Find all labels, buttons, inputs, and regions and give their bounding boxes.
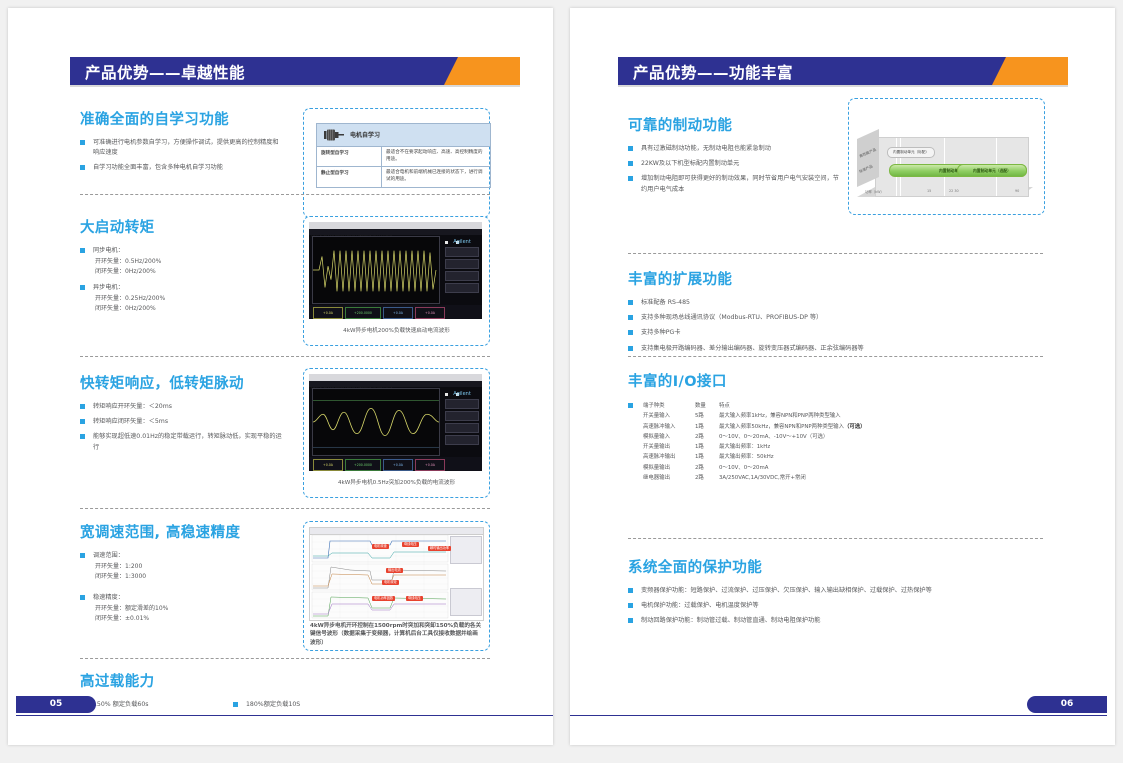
list-item: 异步电机： <box>80 283 280 293</box>
sub-item: 闭环矢量：0Hz/200% <box>80 304 280 314</box>
scope-side-cell <box>445 271 479 281</box>
right-banner-underline <box>618 85 1068 87</box>
col-type: 端子种类 <box>641 401 695 411</box>
section-title: 准确全面的自学习功能 <box>80 108 280 129</box>
bullet-list: 可准确进行电机参数自学习，方便操作调试，提供更高的控制精度和响应速度 自学习功能… <box>80 138 280 174</box>
footer-rule <box>570 715 1107 717</box>
col-note: 特点 <box>719 401 1028 411</box>
right-banner-title: 产品优势——功能丰富 <box>633 61 793 83</box>
cell-qty: 5路 <box>695 411 719 421</box>
section-speed-range: 宽调速范围, 高稳速精度 调速范围： 开环矢量：1:200 闭环矢量：1:300… <box>80 521 285 624</box>
sub-item: 闭环矢量：1:3000 <box>80 572 285 582</box>
cell-note: 0～10V、0～20mA、-10V～+10V（可选） <box>719 432 1028 442</box>
scope-titlebar: DSO-X 3034A MY54180742 Modbus 01/22/2014 <box>309 222 482 229</box>
cell-type: 模拟量输入 <box>628 432 695 442</box>
figure-scope-2: DSO-X 3034A MY54180742 Modbus 01/08/2013… <box>303 368 490 498</box>
current-waveform <box>313 237 439 303</box>
cell-type: 高速脉冲输出 <box>628 452 695 462</box>
cell-qty: 2路 <box>695 463 719 473</box>
section-expansion: 丰富的扩展功能 标准配备 RS-485 支持多种现场总线通讯协议（Modbus-… <box>628 268 988 359</box>
list-item: 同步电机： <box>80 246 280 256</box>
scope-titlebar: DSO-X 3034A MY54180742 Modbus 01/08/2013 <box>309 374 482 381</box>
page-right: 产品优势——功能丰富 可靠的制动功能 具有过激磁制动功能，无制动电阻也能紧急制动… <box>570 8 1115 745</box>
cell-qty: 2路 <box>695 432 719 442</box>
axis-label: 22 30 <box>949 189 959 193</box>
list-item: 支持集电极开路编码器、差分输出编码器、旋转变压器式编码器、正余弦编码器等 <box>628 344 988 354</box>
channel-readout: +0.0A <box>415 459 445 471</box>
divider <box>628 253 1043 254</box>
list-item: 150% 额定负载60s <box>80 700 233 710</box>
io-table: 端子种类 数量 特点 开关量输入 5路 最大输入频率1kHz，兼容NPN和PNP… <box>628 401 1028 483</box>
chart-legend-panel <box>450 536 482 564</box>
section-overload: 高过载能力 150% 额定负载60s 180%额定负载10S <box>80 670 490 715</box>
scope-side-cell <box>445 283 479 293</box>
cell-qty: 2路 <box>695 473 719 483</box>
figure-scope-1: DSO-X 3034A MY54180742 Modbus 01/22/2014… <box>303 216 490 346</box>
cell-qty: 1路 <box>695 422 719 432</box>
page-number-right: 06 <box>1027 696 1107 713</box>
annotation-label: 输出电流 <box>386 568 403 573</box>
scope-side-cell <box>445 411 479 421</box>
annotation-label: 母线电压 <box>402 542 419 547</box>
table-row: 高速脉冲输出 1路 最大输出频率：50kHz <box>628 452 1028 462</box>
cell-note: 最大输出频率：50kHz <box>719 452 1028 462</box>
scope-side-panel: Agilent <box>444 237 480 303</box>
annotation-label: 电机转速 <box>372 544 389 549</box>
col-qty: 数量 <box>695 401 719 411</box>
figure-motor-selflearn: 电机自学习 旋转型自学习 最适合不在要求起动响应、高速、高控制精度的用途。 静止… <box>303 108 490 218</box>
cell-type: 高速脉冲输入 <box>628 422 695 432</box>
list-item: 可准确进行电机参数自学习，方便操作调试，提供更高的控制精度和响应速度 <box>80 138 280 158</box>
annotation-label: 电机转矩 <box>382 580 399 585</box>
figure-caption: 4kW异步电机200%负载快速启动电流波形 <box>310 327 483 335</box>
figure-curve-chart: 电机转速 母线电压 瞬时输出功率 输出电流 电机转矩 电机功率因数 母线电压 4… <box>303 521 490 651</box>
list-item: 调速范围： <box>80 551 285 561</box>
annotation-label: 母线电压 <box>406 596 423 601</box>
cell-type: 开关量输入 <box>628 411 695 421</box>
page-number-left: 05 <box>16 696 96 713</box>
divider <box>628 538 1043 539</box>
agilent-logo: Agilent <box>444 237 480 245</box>
scope-side-cell <box>445 259 479 269</box>
channel-readout: +0.0A <box>415 307 445 319</box>
low-freq-waveform <box>313 389 439 455</box>
cell-note: 3A/250VAC,1A/30VDC,常开+常闭 <box>719 473 1028 483</box>
section-title: 系统全面的保护功能 <box>628 556 1048 577</box>
agilent-logo: Agilent <box>444 389 480 397</box>
braking-unit-diagram: 高性能产品 标准产品 内置制动单元（标配） 内置制动单元（标配） 内置制动单元（… <box>857 119 1035 199</box>
divider <box>80 658 490 659</box>
section-title: 大启动转矩 <box>80 216 280 237</box>
list-item: 22KW及以下机型标配内置制动单元 <box>628 159 843 169</box>
channel-readout: +0.0A <box>383 459 413 471</box>
list-item: 增加制动电阻即可获得更好的制动效果，同时节省用户电气安装空间，节约用户电气成本 <box>628 174 843 194</box>
scope-side-cell <box>445 435 479 445</box>
row-desc: 最适合不在要求起动响应、高速、高控制精度的用途。 <box>382 147 490 166</box>
bullet-list: 标准配备 RS-485 支持多种现场总线通讯协议（Modbus-RTU、PROF… <box>628 298 988 354</box>
bullet-list: 转矩响应开环矢量：＜20ms 转矩响应闭环矢量：＜5ms 能够实现超低速0.01… <box>80 402 285 453</box>
list-item: 转矩响应开环矢量：＜20ms <box>80 402 285 412</box>
cell-note: 0～10V、0～20mA <box>719 463 1028 473</box>
brochure-spread: 产品优势——卓越性能 准确全面的自学习功能 可准确进行电机参数自学习，方便操作调… <box>0 0 1123 763</box>
bullet-list: 具有过激磁制动功能，无制动电阻也能紧急制动 22KW及以下机型标配内置制动单元 … <box>628 144 843 195</box>
section-title: 宽调速范围, 高稳速精度 <box>80 521 285 542</box>
table-row: 开关量输入 5路 最大输入频率1kHz，兼容NPN和PNP两种类型输入 <box>628 411 1028 421</box>
cell-type: 开关量输出 <box>628 442 695 452</box>
annotation-label: 瞬时输出功率 <box>428 546 451 551</box>
row-name: 旋转型自学习 <box>317 147 382 166</box>
scope-plot-area <box>312 236 440 304</box>
section-starting-torque: 大启动转矩 同步电机： 开环矢量：0.5Hz/200% 闭环矢量：0Hz/200… <box>80 216 280 314</box>
left-banner-title: 产品优势——卓越性能 <box>85 61 245 83</box>
section-braking: 可靠的制动功能 具有过激磁制动功能，无制动电阻也能紧急制动 22KW及以下机型标… <box>628 114 843 200</box>
section-protection: 系统全面的保护功能 变频器保护功能：短路保护、过流保护、过压保护、欠压保护、输入… <box>628 556 1048 632</box>
callout-tag-label: 内置制动单元（标配） <box>888 148 934 157</box>
pill-label-optional: 内置制动单元（选配） <box>958 165 1026 176</box>
divider <box>80 194 490 195</box>
divider <box>628 356 1043 357</box>
section-title: 快转矩响应，低转矩脉动 <box>80 372 285 393</box>
motor-icon <box>323 129 345 141</box>
list-item: 电机保护功能：过载保护、电机温度保护等 <box>628 601 1048 611</box>
section-title: 丰富的扩展功能 <box>628 268 988 289</box>
cell-note-emphasis: （可选） <box>844 424 866 430</box>
divider <box>80 356 490 357</box>
list-item: 自学习功能全面丰富，包含多种电机自学习功能 <box>80 163 280 173</box>
divider <box>80 508 490 509</box>
right-banner: 产品优势——功能丰富 <box>618 57 1068 85</box>
callout-tag: 内置制动单元（标配） <box>887 147 935 158</box>
scope-plot-area <box>312 388 440 456</box>
channel-readout: +200.0000 <box>345 307 381 319</box>
channel-readout: +0.0A <box>313 459 343 471</box>
scope-side-panel: Agilent <box>444 389 480 455</box>
footer-rule <box>16 715 553 717</box>
section-torque-response: 快转矩响应，低转矩脉动 转矩响应开环矢量：＜20ms 转矩响应闭环矢量：＜5ms… <box>80 372 285 458</box>
channel-readout: +200.0000 <box>345 459 381 471</box>
section-title: 可靠的制动功能 <box>628 114 843 135</box>
cell-type: 继电器输出 <box>628 473 695 483</box>
table-row: 开关量输出 1路 最大输出频率：1kHz <box>628 442 1028 452</box>
sub-item: 开环矢量：0.25Hz/200% <box>80 294 280 304</box>
section-io: 丰富的I/O接口 端子种类 数量 特点 开关量输入 5路 最大输入频率1kHz，… <box>628 370 1028 483</box>
io-table-head: 端子种类 数量 特点 <box>628 401 1028 411</box>
scope-side-cell <box>445 247 479 257</box>
list-item: 转矩响应闭环矢量：＜5ms <box>80 417 285 427</box>
sub-item: 闭环矢量：0Hz/200% <box>80 267 280 277</box>
sub-item: 开环矢量：1:200 <box>80 562 285 572</box>
scope-menubar <box>309 381 482 387</box>
figure-caption: 4kW异步电机0.5Hz突加200%负载的电流波形 <box>310 479 483 487</box>
left-banner-underline <box>70 85 520 87</box>
section-title: 高过载能力 <box>80 670 490 691</box>
sub-item: 开环矢量：0.5Hz/200% <box>80 257 280 267</box>
table-header-label: 电机自学习 <box>350 130 380 139</box>
list-item: 支持多种现场总线通讯协议（Modbus-RTU、PROFIBUS-DP 等） <box>628 313 988 323</box>
list-item: 具有过激磁制动功能，无制动电阻也能紧急制动 <box>628 144 843 154</box>
scope-side-cell <box>445 399 479 409</box>
scope-channel-bar: +0.0A +200.0000 +0.0A +0.0A <box>309 305 482 319</box>
table-row: 模拟量输出 2路 0～10V、0～20mA <box>628 463 1028 473</box>
list-item: 制动回路保护功能：制动管过载、制动管直通、制动电阻保护功能 <box>628 616 1048 626</box>
list-item: 变频器保护功能：短路保护、过流保护、过压保护、欠压保护、输入输出缺相保护、过载保… <box>628 586 1048 596</box>
row-desc: 最适合电机和前端机械已连接的状态下，进行调试的用途。 <box>382 167 490 186</box>
cell-note: 最大输入频率50kHz，兼容NPN和PNP两种类型输入（可选） <box>719 422 1028 432</box>
list-item: 支持多种PG卡 <box>628 328 988 338</box>
oscilloscope-screenshot-1: DSO-X 3034A MY54180742 Modbus 01/22/2014… <box>309 222 482 319</box>
left-banner: 产品优势——卓越性能 <box>70 57 520 85</box>
list-item: 标准配备 RS-485 <box>628 298 988 308</box>
row-name: 静止型自学习 <box>317 167 382 186</box>
section-self-learning: 准确全面的自学习功能 可准确进行电机参数自学习，方便操作调试，提供更高的控制精度… <box>80 108 280 179</box>
axis-label: 90 <box>1015 189 1019 193</box>
braking-unit-pill-optional: 内置制动单元（选配） <box>957 164 1027 177</box>
sub-item: 开环矢量：额定滑差的10% <box>80 604 285 614</box>
figure-braking-unit: 高性能产品 标准产品 内置制动单元（标配） 内置制动单元（标配） 内置制动单元（… <box>848 98 1045 215</box>
cell-note: 最大输出频率：1kHz <box>719 442 1028 452</box>
page-left: 产品优势——卓越性能 准确全面的自学习功能 可准确进行电机参数自学习，方便操作调… <box>8 8 553 745</box>
list-item: 稳速精度： <box>80 593 285 603</box>
axis-label: 功率（kW） <box>865 189 884 194</box>
table-header-row: 端子种类 数量 特点 <box>641 401 1028 411</box>
page-number-label: 05 <box>16 696 96 713</box>
scope-menubar <box>309 229 482 235</box>
datalogger-chart: 电机转速 母线电压 瞬时输出功率 输出电流 电机转矩 电机功率因数 母线电压 <box>309 527 484 621</box>
scope-side-cell <box>445 423 479 433</box>
table-row: 静止型自学习 最适合电机和前端机械已连接的状态下，进行调试的用途。 <box>317 167 490 186</box>
table-row: 继电器输出 2路 3A/250VAC,1A/30VDC,常开+常闭 <box>628 473 1028 483</box>
bullet-list: 150% 额定负载60s 180%额定负载10S <box>80 700 490 715</box>
cell-type: 模拟量输出 <box>628 463 695 473</box>
table-row: 模拟量输入 2路 0～10V、0～20mA、-10V～+10V（可选） <box>628 432 1028 442</box>
figure-caption: 4kW异步电机开环控制在1500rpm时突加和突卸150%负载的各关键信号波形（… <box>310 622 483 647</box>
motor-selflearn-table: 电机自学习 旋转型自学习 最适合不在要求起动响应、高速、高控制精度的用途。 静止… <box>316 123 491 188</box>
axis-label: 15 <box>927 189 931 193</box>
cell-qty: 1路 <box>695 452 719 462</box>
bullet-list: 同步电机： 开环矢量：0.5Hz/200% 闭环矢量：0Hz/200% 异步电机… <box>80 246 280 314</box>
section-title: 丰富的I/O接口 <box>628 370 1028 391</box>
list-item: 能够实现超低速0.01Hz的稳定带载运行，转矩脉动低，实现平稳的运行 <box>80 432 285 452</box>
bullet-list: 调速范围： 开环矢量：1:200 闭环矢量：1:3000 稳速精度： 开环矢量：… <box>80 551 285 624</box>
channel-readout: +0.0A <box>383 307 413 319</box>
annotation-label: 电机功率因数 <box>372 596 395 601</box>
chart-controls-panel <box>450 588 482 616</box>
table-row: 旋转型自学习 最适合不在要求起动响应、高速、高控制精度的用途。 <box>317 147 490 167</box>
cell-qty: 1路 <box>695 442 719 452</box>
sub-item: 闭环矢量：±0.01% <box>80 614 285 624</box>
cell-note: 最大输入频率1kHz，兼容NPN和PNP两种类型输入 <box>719 411 1028 421</box>
table-header: 电机自学习 <box>317 124 490 147</box>
page-number-label: 06 <box>1027 696 1107 713</box>
list-item: 180%额定负载10S <box>233 700 426 710</box>
scope-channel-bar: +0.0A +200.0000 +0.0A +0.0A <box>309 457 482 471</box>
table-row: 高速脉冲输入 1路 最大输入频率50kHz，兼容NPN和PNP两种类型输入（可选… <box>628 422 1028 432</box>
oscilloscope-screenshot-2: DSO-X 3034A MY54180742 Modbus 01/08/2013… <box>309 374 482 471</box>
channel-readout: +0.0A <box>313 307 343 319</box>
cell-note-text: 最大输入频率50kHz，兼容NPN和PNP两种类型输入 <box>719 424 844 430</box>
bullet-list: 变频器保护功能：短路保护、过流保护、过压保护、欠压保护、输入输出缺相保护、过载保… <box>628 586 1048 627</box>
